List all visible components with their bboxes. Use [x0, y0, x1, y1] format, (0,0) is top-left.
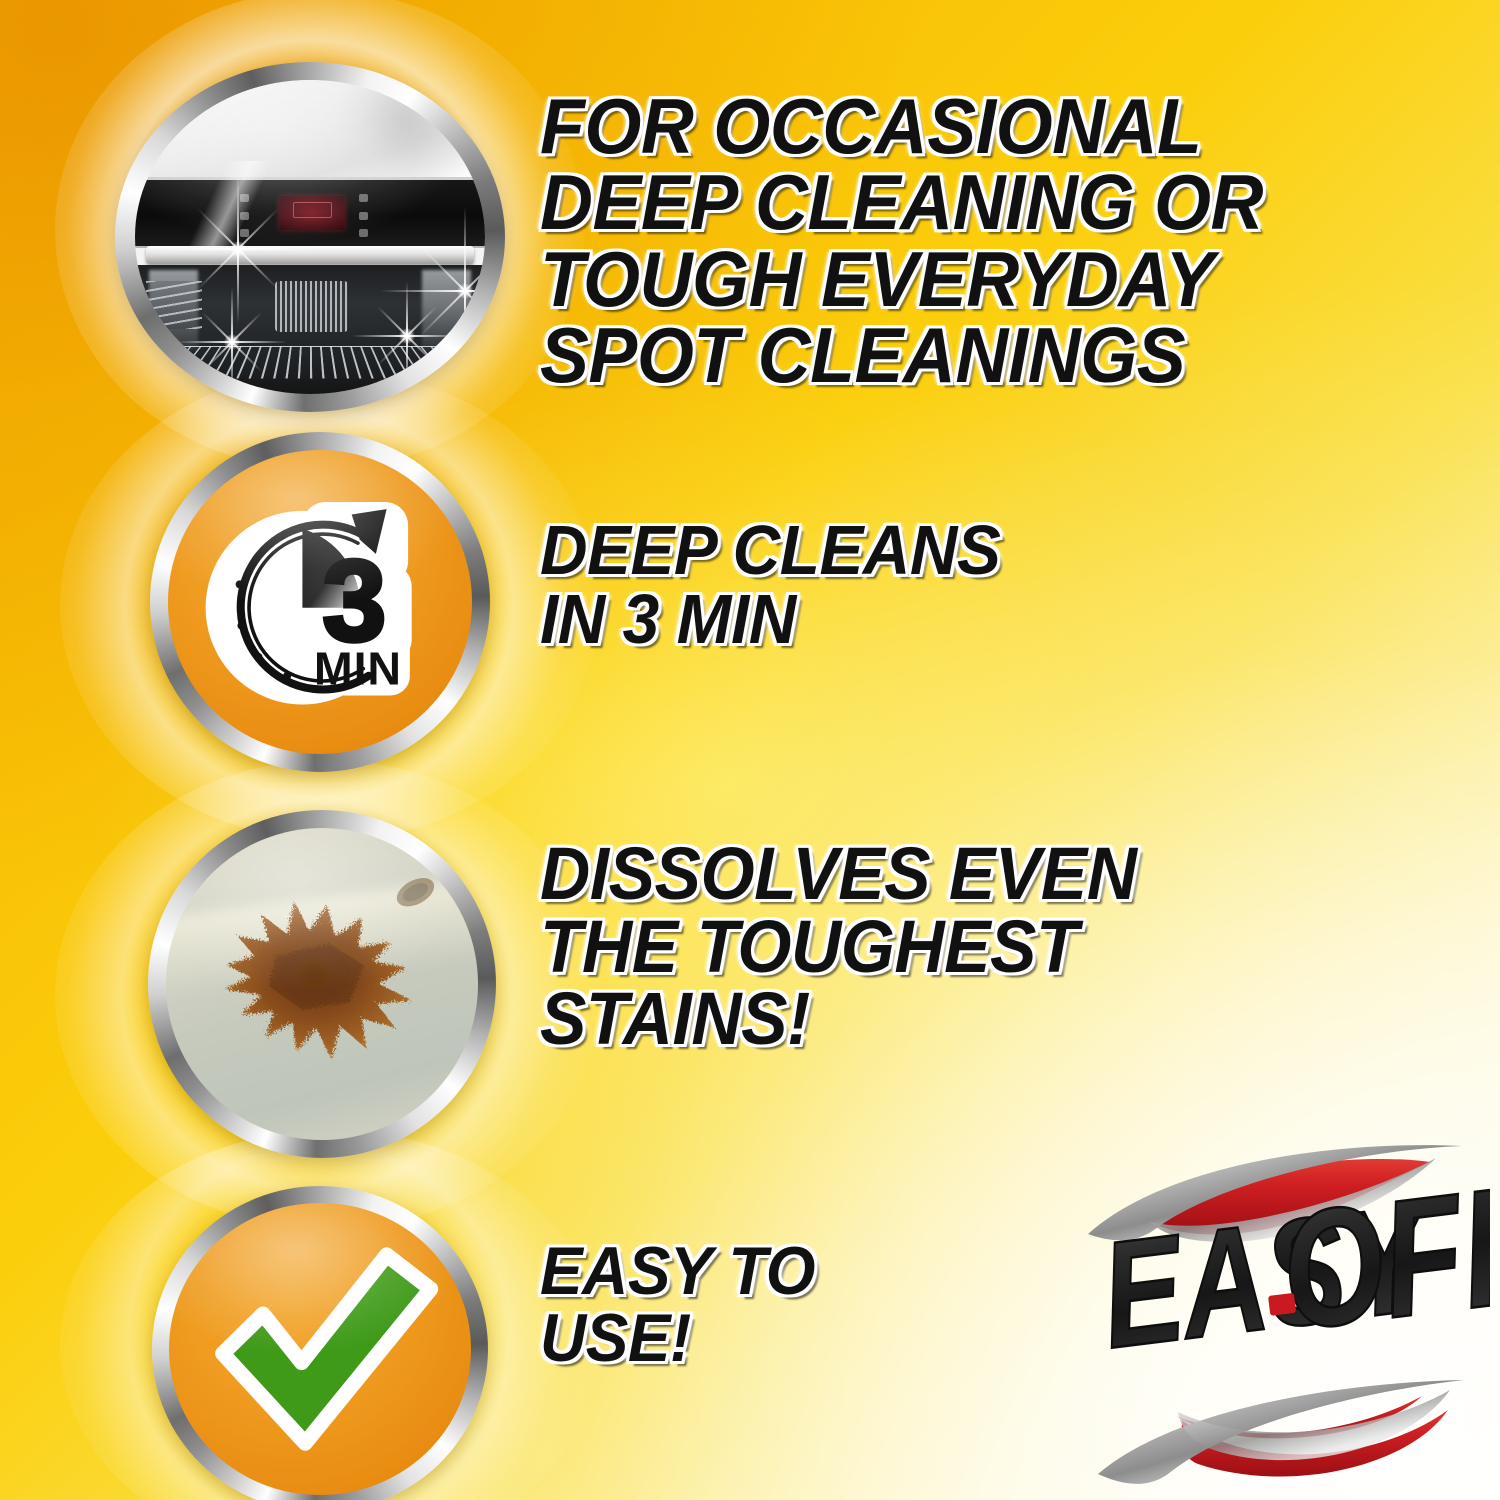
easy-off-logo: EASY OFF: [1058, 1138, 1490, 1500]
feature-headline-dissolves-stains: DISSOLVES EVEN THE TOUGHEST STAINS!: [540, 838, 1136, 1056]
timer-3-min-icon: 3 MIN: [168, 450, 473, 755]
feature-icon-timer: 3 MIN: [150, 432, 490, 772]
feature-icon-stain: [148, 810, 496, 1158]
baked-on-stain-photo-icon: [166, 828, 478, 1140]
infographic-canvas: 3 MIN: [0, 0, 1500, 1500]
feature-icon-check: [152, 1186, 488, 1500]
green-checkmark-icon: [169, 1203, 470, 1495]
timer-unit: MIN: [314, 642, 402, 694]
logo-word-off: OFF: [1272, 1149, 1490, 1366]
clean-oven-photo-icon: [135, 80, 484, 394]
logo-separator-dash: [1268, 1293, 1296, 1316]
feature-icon-clean-oven: [115, 62, 505, 412]
feature-headline-three-minutes: DEEP CLEANS IN 3 MIN: [540, 516, 1000, 653]
feature-headline-deep-cleaning: FOR OCCASIONAL DEEP CLEANING OR TOUGH EV…: [540, 88, 1263, 394]
feature-headline-easy-to-use: EASY TO USE!: [540, 1238, 815, 1371]
